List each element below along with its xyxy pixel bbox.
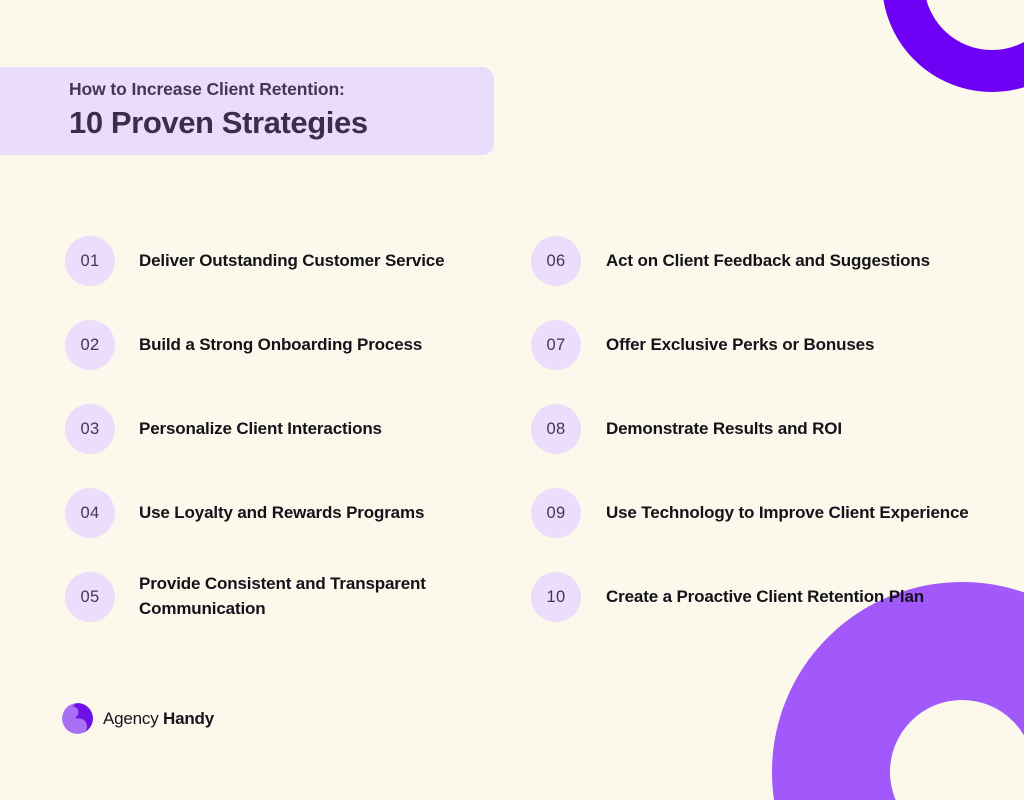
item-number-badge: 02 [65, 320, 115, 370]
item-label: Deliver Outstanding Customer Service [139, 249, 510, 274]
list-item: 09 Use Technology to Improve Client Expe… [531, 488, 1001, 538]
item-label: Offer Exclusive Perks or Bonuses [606, 333, 1001, 358]
item-number-badge: 10 [531, 572, 581, 622]
item-label: Use Technology to Improve Client Experie… [606, 501, 1001, 526]
list-item: 05 Provide Consistent and Transparent Co… [65, 572, 510, 622]
list-item: 08 Demonstrate Results and ROI [531, 404, 1001, 454]
list-item: 01 Deliver Outstanding Customer Service [65, 236, 510, 286]
item-label: Provide Consistent and Transparent Commu… [139, 572, 510, 621]
header-band: How to Increase Client Retention: 10 Pro… [0, 67, 494, 155]
list-item: 04 Use Loyalty and Rewards Programs [65, 488, 510, 538]
list-item: 03 Personalize Client Interactions [65, 404, 510, 454]
item-number-badge: 08 [531, 404, 581, 454]
item-number-badge: 06 [531, 236, 581, 286]
decorative-ring-top-right [882, 0, 1024, 92]
item-label: Personalize Client Interactions [139, 417, 510, 442]
brand-name-bold: Handy [163, 709, 214, 728]
list-item: 06 Act on Client Feedback and Suggestion… [531, 236, 1001, 286]
item-number-badge: 09 [531, 488, 581, 538]
item-number-badge: 05 [65, 572, 115, 622]
item-number-badge: 07 [531, 320, 581, 370]
infographic-canvas: How to Increase Client Retention: 10 Pro… [0, 0, 1024, 800]
item-number-badge: 04 [65, 488, 115, 538]
item-number-badge: 03 [65, 404, 115, 454]
item-label: Demonstrate Results and ROI [606, 417, 1001, 442]
brand-name: Agency Handy [103, 709, 214, 729]
list-item: 10 Create a Proactive Client Retention P… [531, 572, 1001, 622]
item-label: Build a Strong Onboarding Process [139, 333, 510, 358]
item-label: Act on Client Feedback and Suggestions [606, 249, 1001, 274]
list-item: 07 Offer Exclusive Perks or Bonuses [531, 320, 1001, 370]
item-label: Create a Proactive Client Retention Plan [606, 585, 1001, 610]
header-text-group: How to Increase Client Retention: 10 Pro… [69, 79, 368, 143]
brand-logo: Agency Handy [62, 703, 214, 734]
agency-handy-logo-icon [62, 703, 93, 734]
page-title: 10 Proven Strategies [69, 104, 368, 143]
header-eyebrow: How to Increase Client Retention: [69, 79, 368, 100]
item-number-badge: 01 [65, 236, 115, 286]
item-label: Use Loyalty and Rewards Programs [139, 501, 510, 526]
brand-name-light: Agency [103, 709, 163, 728]
list-item: 02 Build a Strong Onboarding Process [65, 320, 510, 370]
